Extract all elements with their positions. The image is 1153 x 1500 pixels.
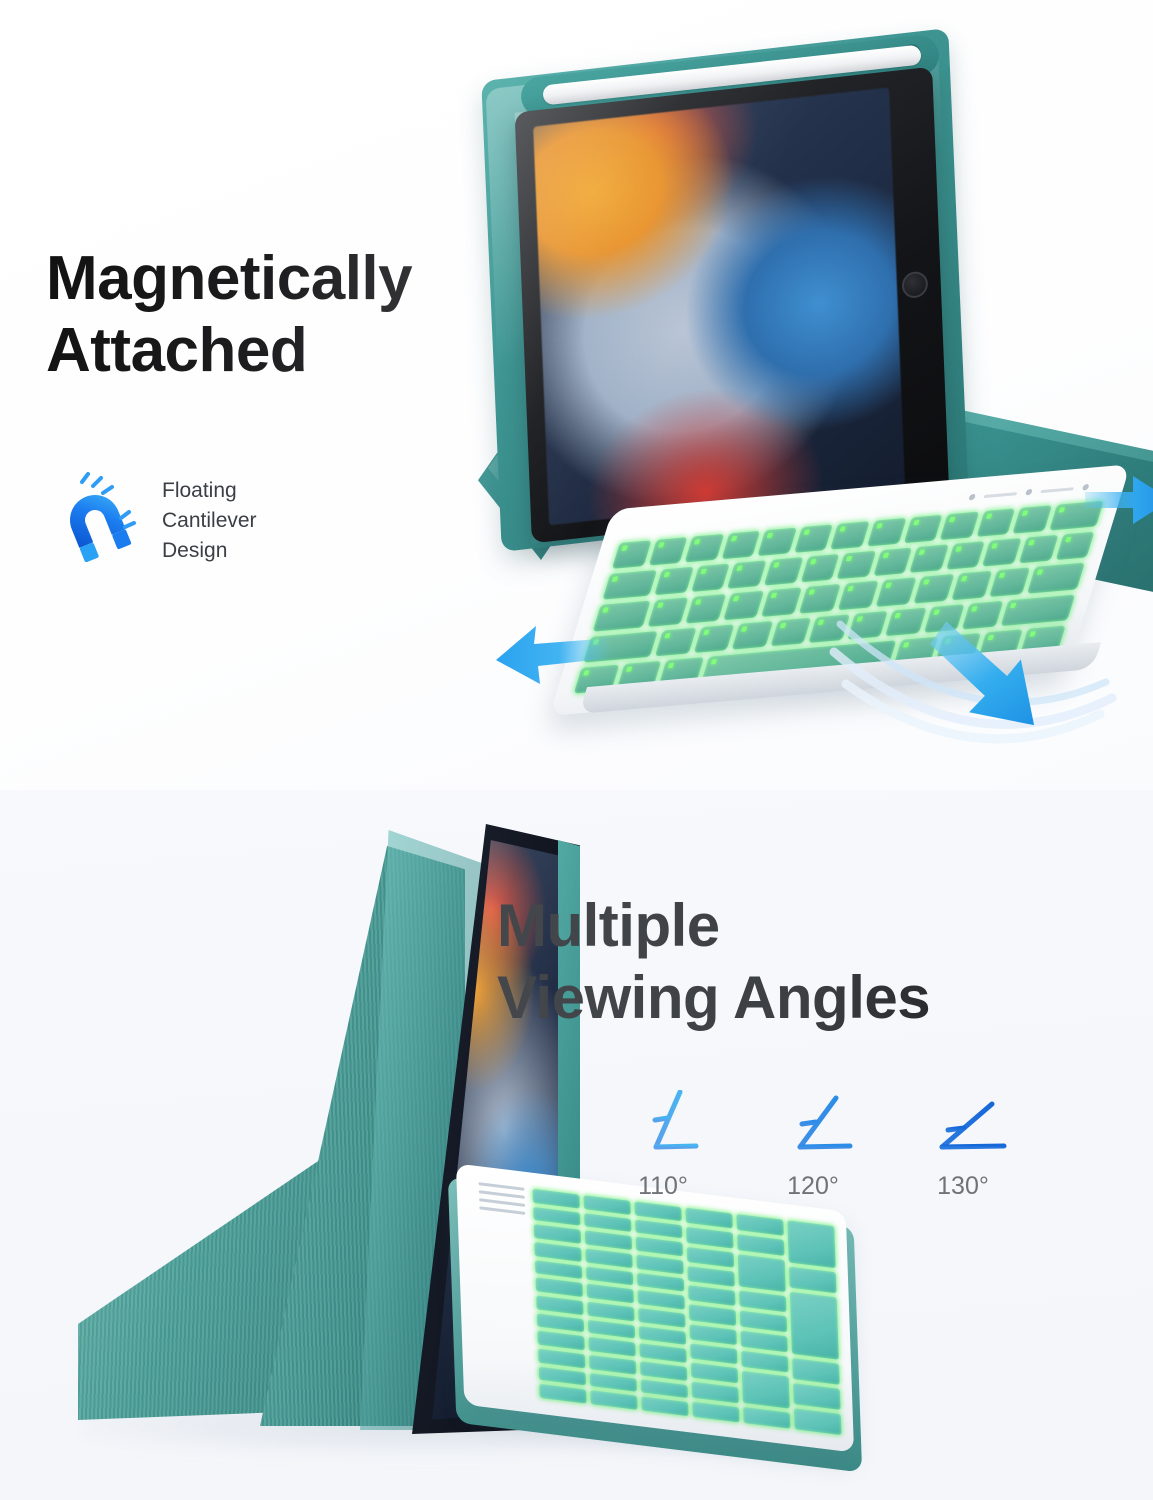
- arrow-down-right-icon: [900, 598, 1090, 743]
- headline-top-line2: Attached: [46, 315, 566, 387]
- viewing-angle-item-130: 130°: [888, 1090, 1038, 1201]
- headline-bottom-line2: Viewing Angles: [497, 962, 1057, 1034]
- product-feature-page: Magnetically Attached: [0, 0, 1153, 1500]
- feature-floating-cantilever: Floating Cantilever Design: [52, 470, 257, 565]
- viewing-angle-list: 110° 120°: [588, 1090, 1038, 1201]
- detachable-keyboard-bottom: [456, 1163, 854, 1452]
- headline-bottom-line1: Multiple: [497, 892, 720, 959]
- viewing-angle-label-110: 110°: [588, 1172, 738, 1201]
- arrow-right-icon: [1085, 462, 1153, 536]
- stand-angle-130-icon: [888, 1090, 1038, 1160]
- viewing-angle-item-110: 110°: [588, 1090, 738, 1201]
- stand-angle-110-icon: [588, 1090, 738, 1160]
- viewing-angle-item-120: 120°: [738, 1090, 888, 1201]
- feature-label-line1: Floating: [162, 476, 257, 506]
- feature-label: Floating Cantilever Design: [162, 470, 257, 565]
- viewing-angle-label-120: 120°: [738, 1172, 888, 1201]
- page-title-bottom: Multiple Viewing Angles: [497, 890, 1057, 1034]
- tablet-device: [515, 67, 950, 544]
- arrow-left-icon: [492, 612, 612, 698]
- stand-angle-120-icon: [738, 1090, 888, 1160]
- keyboard-status-indicators-bottom: [478, 1182, 525, 1228]
- screen-glare: [515, 67, 950, 544]
- headline-top-line1: Magnetically: [46, 244, 412, 313]
- keyboard-keys-bottom: [532, 1189, 841, 1435]
- viewing-angle-label-130: 130°: [888, 1172, 1038, 1201]
- magnet-icon: [52, 470, 138, 562]
- feature-label-line3: Design: [162, 536, 257, 566]
- section-multiple-viewing-angles: Multiple Viewing Angles: [0, 790, 1153, 1500]
- feature-label-line2: Cantilever: [162, 506, 257, 536]
- page-title-top: Magnetically Attached: [46, 243, 566, 387]
- section-magnetically-attached: Magnetically Attached: [0, 0, 1153, 790]
